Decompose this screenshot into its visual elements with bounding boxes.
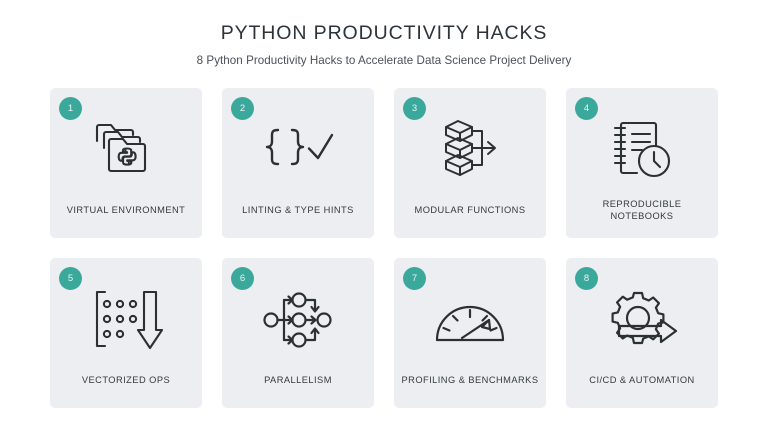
page-title: PYTHON PRODUCTIVITY HACKS <box>0 22 768 44</box>
card-label: PROFILING & BENCHMARKS <box>400 364 540 408</box>
card-number-badge: 5 <box>59 267 82 290</box>
card-label: REPRODUCIBLE NOTEBOOKS <box>572 194 712 238</box>
card-number-badge: 4 <box>575 97 598 120</box>
hack-card-5[interactable]: 5 VECTORIZED OPS <box>50 258 202 408</box>
card-label: VECTORIZED OPS <box>56 364 196 408</box>
card-number-badge: 1 <box>59 97 82 120</box>
stacked-folders-python-icon <box>50 114 202 186</box>
slide-header: PYTHON PRODUCTIVITY HACKS 8 Python Produ… <box>0 22 768 67</box>
card-label: VIRTUAL ENVIRONMENT <box>56 194 196 238</box>
hack-card-1[interactable]: 1 VIRTUAL ENVIRONMENT <box>50 88 202 238</box>
card-number-badge: 2 <box>231 97 254 120</box>
hack-card-6[interactable]: 6 <box>222 258 374 408</box>
hack-card-2[interactable]: 2 LINTING & TYPE HINTS <box>222 88 374 238</box>
curly-braces-check-icon <box>222 114 374 186</box>
card-label: MODULAR FUNCTIONS <box>400 194 540 238</box>
stacked-cubes-arrow-icon <box>394 114 546 186</box>
spiral-notebook-clock-icon <box>566 114 718 186</box>
page-subtitle: 8 Python Productivity Hacks to Accelerat… <box>0 54 768 67</box>
card-number-badge: 3 <box>403 97 426 120</box>
card-number-badge: 7 <box>403 267 426 290</box>
hack-card-3[interactable]: 3 <box>394 88 546 238</box>
card-number-badge: 6 <box>231 267 254 290</box>
matrix-down-arrow-icon <box>50 284 202 356</box>
speedometer-gauge-icon <box>394 284 546 356</box>
card-label: PARALLELISM <box>228 364 368 408</box>
card-number-badge: 8 <box>575 267 598 290</box>
hacks-grid: 1 VIRTUAL ENVIRONMENT 2 <box>50 88 718 408</box>
hack-card-7[interactable]: 7 PROFILING & BENCHMARKS <box>394 258 546 408</box>
hack-card-4[interactable]: 4 REPRODUCIBLE NOTE <box>566 88 718 238</box>
gear-arrow-icon <box>566 284 718 356</box>
slide-root: PYTHON PRODUCTIVITY HACKS 8 Python Produ… <box>0 0 768 429</box>
hack-card-8[interactable]: 8 CI/CD & AUTOMATION <box>566 258 718 408</box>
fork-join-nodes-icon <box>222 284 374 356</box>
card-label: CI/CD & AUTOMATION <box>572 364 712 408</box>
card-label: LINTING & TYPE HINTS <box>228 194 368 238</box>
